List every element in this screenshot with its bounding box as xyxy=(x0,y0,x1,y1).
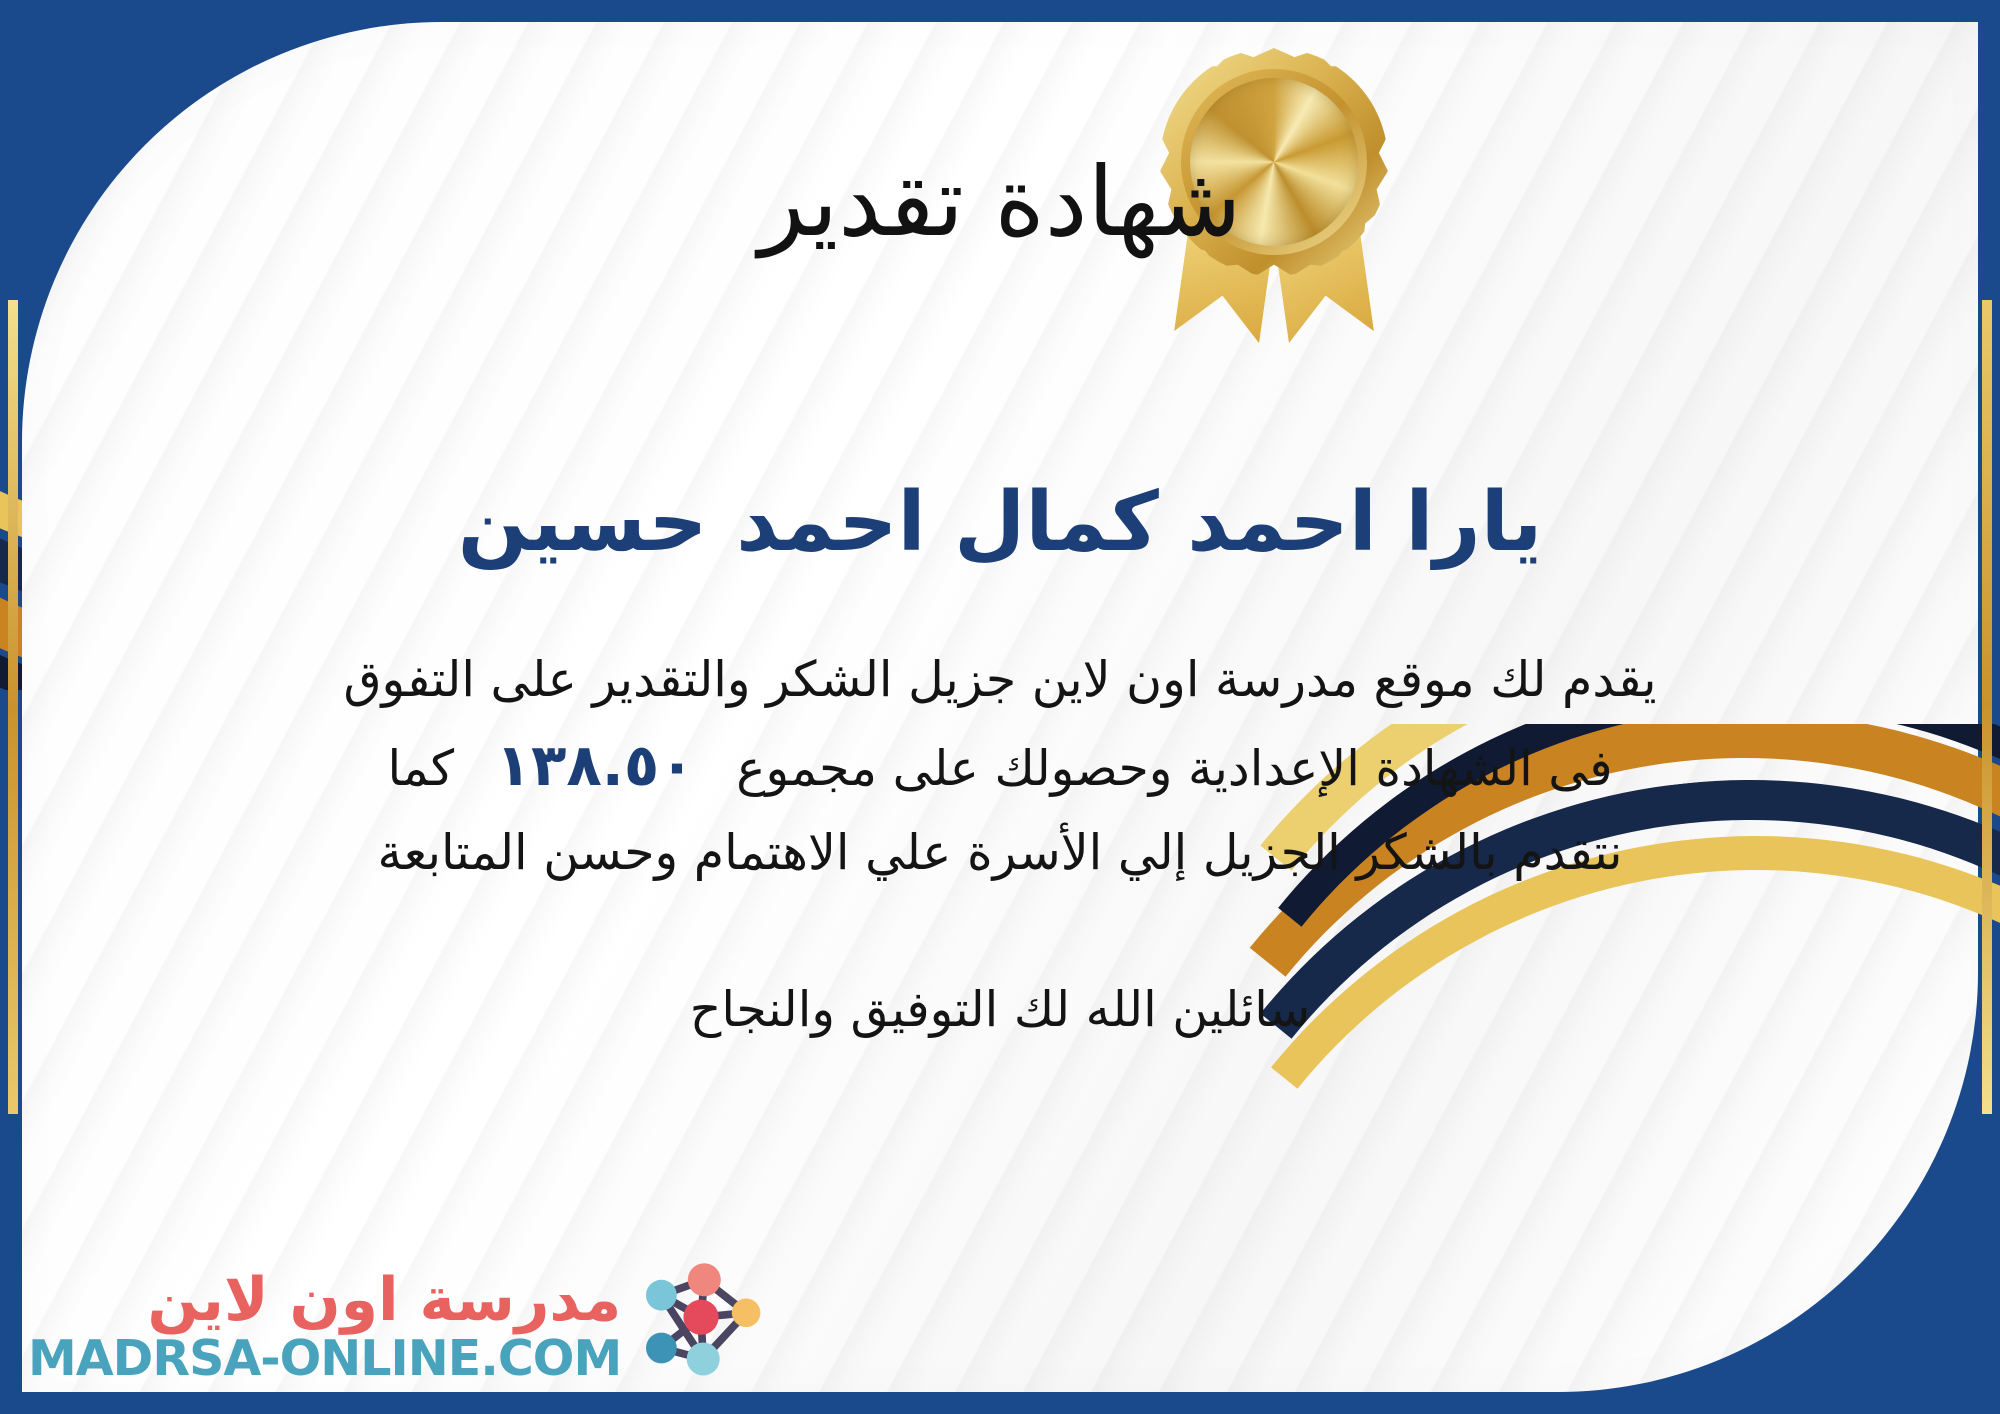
page-title: شهادة تقدير xyxy=(759,150,1242,256)
body-line-1: يقدم لك موقع مدرسة اون لاين جزيل الشكر و… xyxy=(60,640,1940,719)
closing-line: سائلين الله لك التوفيق والنجاح xyxy=(690,981,1310,1038)
logo-arabic-name: مدرسة اون لاين xyxy=(28,1270,621,1330)
body-line-2-prefix: فى الشهادة الإعدادية وحصولك على مجموع xyxy=(736,740,1612,797)
logo-domain: MADRSA-ONLINE.COM xyxy=(28,1334,621,1383)
body-line-3: نتقدم بالشكر الجزيل إلي الأسرة علي الاهت… xyxy=(60,813,1940,892)
network-nodes-icon xyxy=(635,1260,767,1392)
body-line-2-suffix: كما xyxy=(387,740,454,797)
certificate-content: شهادة تقدير يارا احمد كمال احمد حسين يقد… xyxy=(0,0,2000,1414)
site-logo[interactable]: مدرسة اون لاين MADRSA-ONLINE.COM xyxy=(28,1260,767,1392)
body-line-2: فى الشهادة الإعدادية وحصولك على مجموع ١٣… xyxy=(60,719,1940,813)
grade-value: ١٣٨.٥٠ xyxy=(470,731,721,799)
certificate-canvas: شهادة تقدير يارا احمد كمال احمد حسين يقد… xyxy=(0,0,2000,1414)
logo-wordmark: مدرسة اون لاين MADRSA-ONLINE.COM xyxy=(28,1270,621,1383)
certificate-body: يقدم لك موقع مدرسة اون لاين جزيل الشكر و… xyxy=(60,640,1940,893)
recipient-name: يارا احمد كمال احمد حسين xyxy=(458,476,1543,570)
